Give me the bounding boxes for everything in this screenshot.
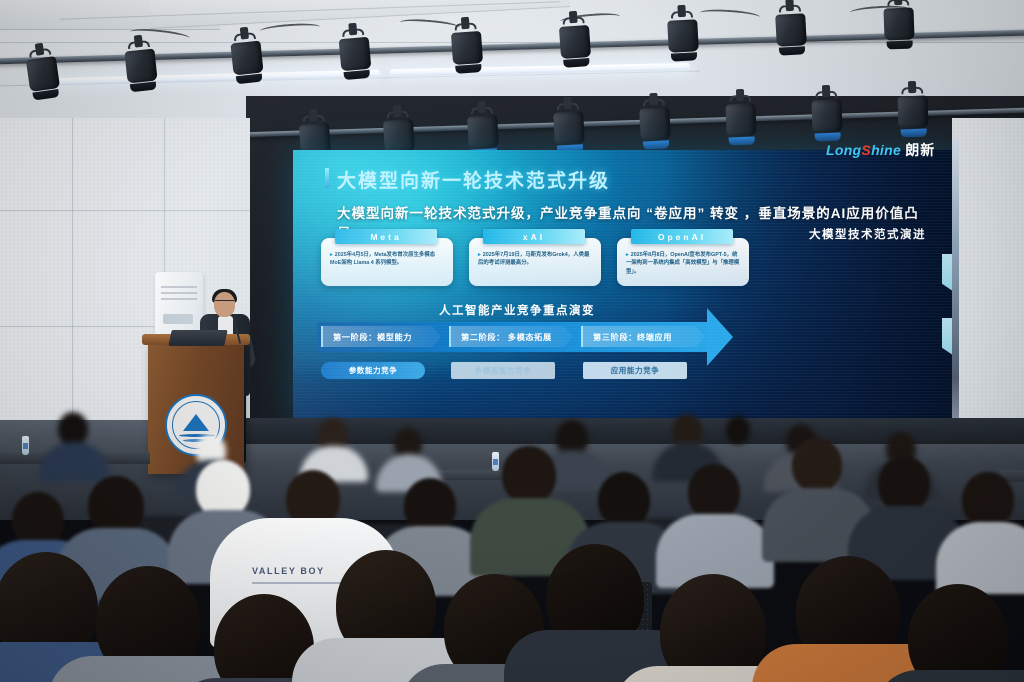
stage-light	[775, 7, 807, 53]
audience-head	[58, 412, 88, 446]
stage-light	[639, 101, 671, 147]
led-presentation-screen: LongShine 朗新 大模型向新一轮技术范式升级 大模型向新一轮技术范式升级…	[293, 150, 962, 422]
audience-shoulders	[38, 442, 110, 482]
audience-shoulders	[936, 522, 1024, 594]
brand-latin-part2: hine	[871, 142, 901, 158]
speaker-head	[214, 292, 235, 317]
stage-light	[553, 105, 585, 151]
audience-head	[878, 456, 930, 512]
stage-light	[124, 43, 158, 90]
news-card-body: ▸2025年7月19日，马斯克发布Grok4，人类最后的考试评测最高分。	[478, 251, 594, 268]
phase-pill-3: 应用能力竞争	[583, 362, 687, 379]
phase-label-3: 第三阶段：终端应用	[581, 326, 705, 347]
brand-chinese: 朗新	[905, 142, 935, 158]
audience-head	[502, 446, 556, 504]
stage-light	[230, 35, 264, 82]
slide-content: LongShine 朗新 大模型向新一轮技术范式升级 大模型向新一轮技术范式升级…	[293, 150, 962, 422]
paradigm-heading: 大模型技术范式演进	[809, 226, 926, 242]
news-card-text: 2025年8月8日，OpenAI宣布发布GPT-5，统一架构到一系统内集成「高效…	[626, 252, 739, 275]
stage-light	[467, 109, 499, 155]
presentation-photo: LongShine 朗新 大模型向新一轮技术范式升级 大模型向新一轮技术范式升级…	[0, 0, 1024, 682]
audience-head	[908, 584, 1008, 682]
brand-latin-s: S	[861, 142, 871, 158]
audience-head	[726, 416, 750, 444]
audience-head	[688, 464, 740, 520]
news-card-body: ▸2025年8月8日，OpenAI宣布发布GPT-5，统一架构到一系统内集成「高…	[626, 251, 742, 276]
news-card-body: ▸2025年4月5日，Meta发布首次原生多模态MoE架构 Llama 4 系列…	[330, 251, 446, 268]
phase-label-1: 第一阶段：模型能力	[321, 326, 441, 347]
phase-pill-1: 参数能力竞争	[321, 362, 425, 379]
stage-light	[897, 89, 929, 134]
brand-latin-part1: Long	[826, 142, 861, 158]
stage-light	[338, 31, 372, 77]
wall-seam	[0, 210, 250, 211]
news-card: OpenAI ▸2025年8月8日，OpenAI宣布发布GPT-5，统一架构到一…	[617, 238, 749, 286]
stage-light	[25, 50, 61, 98]
bullet-icon: ▸	[330, 252, 333, 258]
stage-light	[559, 19, 592, 65]
news-card-tag: Meta	[335, 229, 437, 244]
longshine-logo-wall: LongShine 朗新	[826, 140, 935, 160]
jacket-logo-underline	[252, 582, 344, 584]
speaker-glasses	[215, 300, 234, 304]
audience-head	[88, 476, 144, 536]
stage-light	[883, 1, 915, 46]
news-card: xAI ▸2025年7月19日，马斯克发布Grok4，人类最后的考试评测最高分。	[469, 238, 601, 286]
laptop	[168, 330, 227, 346]
news-card-tag: OpenAI	[631, 229, 733, 244]
title-accent-bar	[325, 168, 329, 188]
stage-light	[811, 93, 843, 138]
audience-area: VALLEY BOY	[0, 398, 1024, 682]
news-card-list: Meta ▸2025年4月5日，Meta发布首次原生多模态MoE架构 Llama…	[321, 238, 749, 286]
stage-light	[667, 13, 699, 59]
jacket-logo-text: VALLEY BOY	[252, 566, 325, 576]
phase-pill-2: 多模态能力竞争	[451, 362, 555, 379]
news-card-text: 2025年4月5日，Meta发布首次原生多模态MoE架构 Llama 4 系列模…	[330, 252, 435, 266]
stage-light	[451, 25, 484, 71]
news-card: Meta ▸2025年4月5日，Meta发布首次原生多模态MoE架构 Llama…	[321, 238, 453, 286]
audience-head	[792, 438, 842, 492]
audience-head	[962, 472, 1014, 528]
evolution-heading: 人工智能产业竞争重点演变	[439, 302, 595, 318]
audience-head	[598, 472, 650, 528]
stage-light	[725, 97, 757, 142]
bullet-icon: ▸	[626, 252, 629, 258]
slide-title: 大模型向新一轮技术范式升级	[337, 166, 610, 193]
phase-label-2: 第二阶段： 多模态拓展	[449, 326, 573, 347]
news-card-text: 2025年7月19日，马斯克发布Grok4，人类最后的考试评测最高分。	[478, 252, 589, 266]
evolution-arrow-head	[707, 308, 733, 366]
ceiling-slab	[150, 0, 570, 29]
news-card-tag: xAI	[483, 229, 585, 244]
bullet-icon: ▸	[478, 252, 481, 258]
